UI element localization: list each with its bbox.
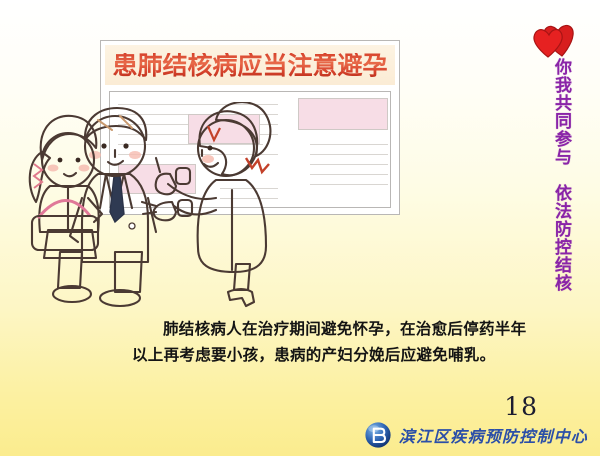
double-heart-icon: [532, 24, 576, 58]
footer-brand: 滨江区疾病预防控制中心: [364, 418, 588, 452]
body-paragraph: 肺结核病人在治疗期间避免怀孕，在治愈后停药半年以上再考虑要小孩，患病的产妇分娩后…: [132, 316, 532, 368]
organization-name: 滨江区疾病预防控制中心: [399, 423, 588, 447]
cartoon-figures: [20, 102, 420, 317]
binjiang-cdc-logo-icon: [364, 421, 392, 449]
poster-board-header: 患肺结核病应当注意避孕: [105, 45, 395, 85]
slide-canvas: 患肺结核病应当注意避孕: [0, 0, 600, 456]
vertical-slogan: 你我共同参与 依法防控结核: [532, 24, 578, 274]
female-doctor-figure: [142, 102, 270, 306]
illustration: 患肺结核病应当注意避孕: [20, 22, 420, 312]
woman-patient-figure: [30, 116, 102, 302]
page-number: 18: [504, 392, 538, 421]
poster-board-title: 患肺结核病应当注意避孕: [112, 53, 387, 78]
slogan-text: 你我共同参与 依法防控结核: [544, 58, 570, 292]
